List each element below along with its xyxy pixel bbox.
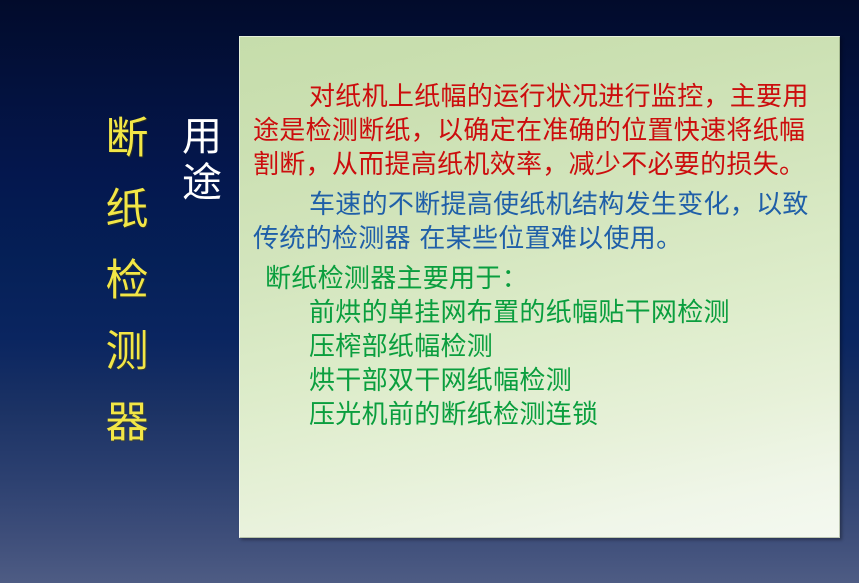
vertical-title: 断 纸 检 测 器 (96, 104, 158, 459)
paragraph-blue: 车速的不断提高使纸机结构发生变化，以致传统的检测器 在某些位置难以使用。 (253, 188, 826, 256)
list-item: 烘干部双干网纸幅检测 (309, 364, 826, 398)
vertical-title-char-2: 纸 (106, 175, 149, 246)
bullet-list: 前烘的单挂网布置的纸幅贴干网检测 压榨部纸幅检测 烘干部双干网纸幅检测 压光机前… (253, 296, 826, 432)
list-heading: 断纸检测器主要用于： (253, 262, 826, 296)
vertical-title-char-3: 检 (106, 246, 149, 317)
subtitle-label: 用 途 (178, 114, 226, 206)
vertical-title-char-1: 断 (106, 104, 149, 175)
subtitle-char-2: 途 (182, 160, 222, 206)
list-item: 压光机前的断纸检测连锁 (309, 398, 826, 432)
list-item: 压榨部纸幅检测 (309, 330, 826, 364)
content-panel: 对纸机上纸幅的运行状况进行监控，主要用途是检测断纸，以确定在准确的位置快速将纸幅… (239, 36, 840, 538)
presentation-slide: 断 纸 检 测 器 用 途 对纸机上纸幅的运行状况进行监控，主要用途是检测断纸，… (0, 0, 859, 583)
subtitle-char-1: 用 (182, 114, 222, 160)
list-item: 前烘的单挂网布置的纸幅贴干网检测 (309, 296, 826, 330)
vertical-title-char-4: 测 (106, 317, 149, 388)
paragraph-red: 对纸机上纸幅的运行状况进行监控，主要用途是检测断纸，以确定在准确的位置快速将纸幅… (253, 80, 826, 182)
vertical-title-char-5: 器 (106, 388, 149, 459)
